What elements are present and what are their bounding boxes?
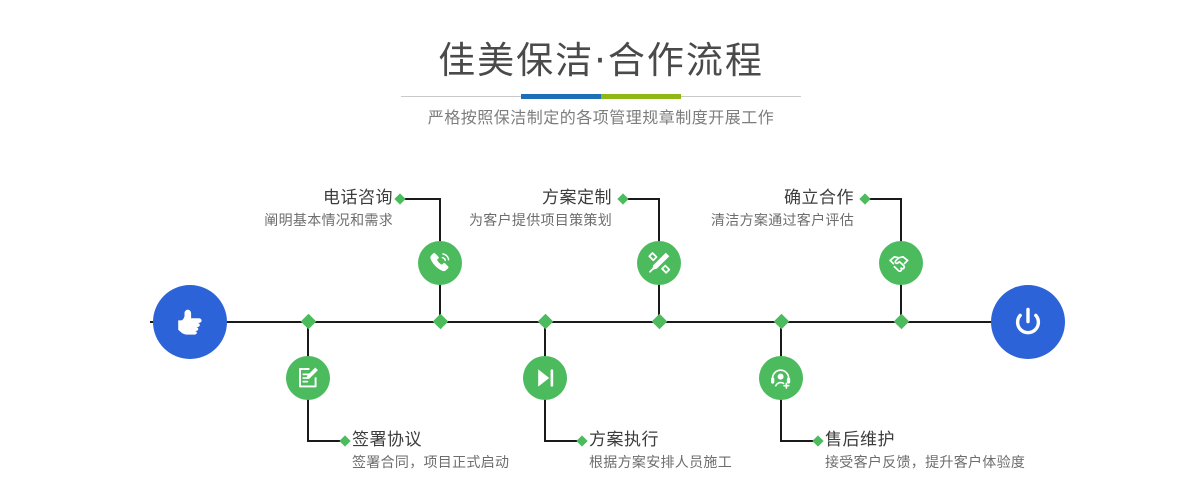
timeline-axis [150,321,1052,323]
document-edit-icon [295,365,321,391]
node-icon-step-3 [637,241,681,285]
divider-green-segment [601,94,681,99]
page-title: 佳美保洁·合作流程 [0,38,1202,84]
start-endpoint-pointing-hand [153,285,227,359]
label-marker-step-5 [859,193,870,204]
play-step-icon [532,365,558,391]
process-flow-infographic: 佳美保洁·合作流程 严格按照保洁制定的各项管理规章制度开展工作 电话咨询 阐明基… [0,0,1202,502]
node-icon-step-2 [286,356,330,400]
axis-marker-step-1 [433,314,449,330]
node-icon-step-4 [523,356,567,400]
step-subtitle-4: 根据方案安排人员施工 [589,452,839,474]
pointing-hand-icon [170,302,210,342]
axis-marker-step-5 [894,314,910,330]
pencil-ruler-icon [646,250,672,276]
step-subtitle-6: 接受客户反馈，提升客户体验度 [825,452,1125,474]
node-icon-step-1 [418,241,462,285]
step-label-3: 方案定制 为客户提供项目策策划 [380,186,612,232]
end-endpoint-power [991,285,1065,359]
step-subtitle-3: 为客户提供项目策策划 [380,210,612,232]
node-icon-step-5 [879,241,923,285]
title-divider [401,94,801,99]
step-subtitle-1: 阐明基本情况和需求 [150,210,393,232]
handshake-icon [888,250,914,276]
axis-marker-step-4 [538,314,554,330]
step-title-4: 方案执行 [589,428,839,452]
step-title-1: 电话咨询 [150,186,393,210]
step-title-5: 确立合作 [625,186,854,210]
label-marker-step-2 [339,435,350,446]
axis-marker-step-6 [774,314,790,330]
step-subtitle-2: 签署合同，项目正式启动 [352,452,612,474]
page-subtitle: 严格按照保洁制定的各项管理规章制度开展工作 [0,106,1202,130]
step-label-5: 确立合作 清洁方案通过客户评估 [625,186,854,232]
step-title-6: 售后维护 [825,428,1125,452]
phone-call-icon [427,250,453,276]
step-label-2: 签署协议 签署合同，项目正式启动 [352,428,612,474]
customer-service-add-icon [768,365,794,391]
step-subtitle-5: 清洁方案通过客户评估 [625,210,854,232]
step-title-2: 签署协议 [352,428,612,452]
step-label-1: 电话咨询 阐明基本情况和需求 [150,186,393,232]
power-icon [1008,302,1048,342]
step-label-4: 方案执行 根据方案安排人员施工 [589,428,839,474]
node-icon-step-6 [759,356,803,400]
divider-blue-segment [521,94,601,99]
connector-horizontal-step-5 [866,198,902,200]
step-label-6: 售后维护 接受客户反馈，提升客户体验度 [825,428,1125,474]
axis-marker-step-2 [301,314,317,330]
step-title-3: 方案定制 [380,186,612,210]
axis-marker-step-3 [652,314,668,330]
